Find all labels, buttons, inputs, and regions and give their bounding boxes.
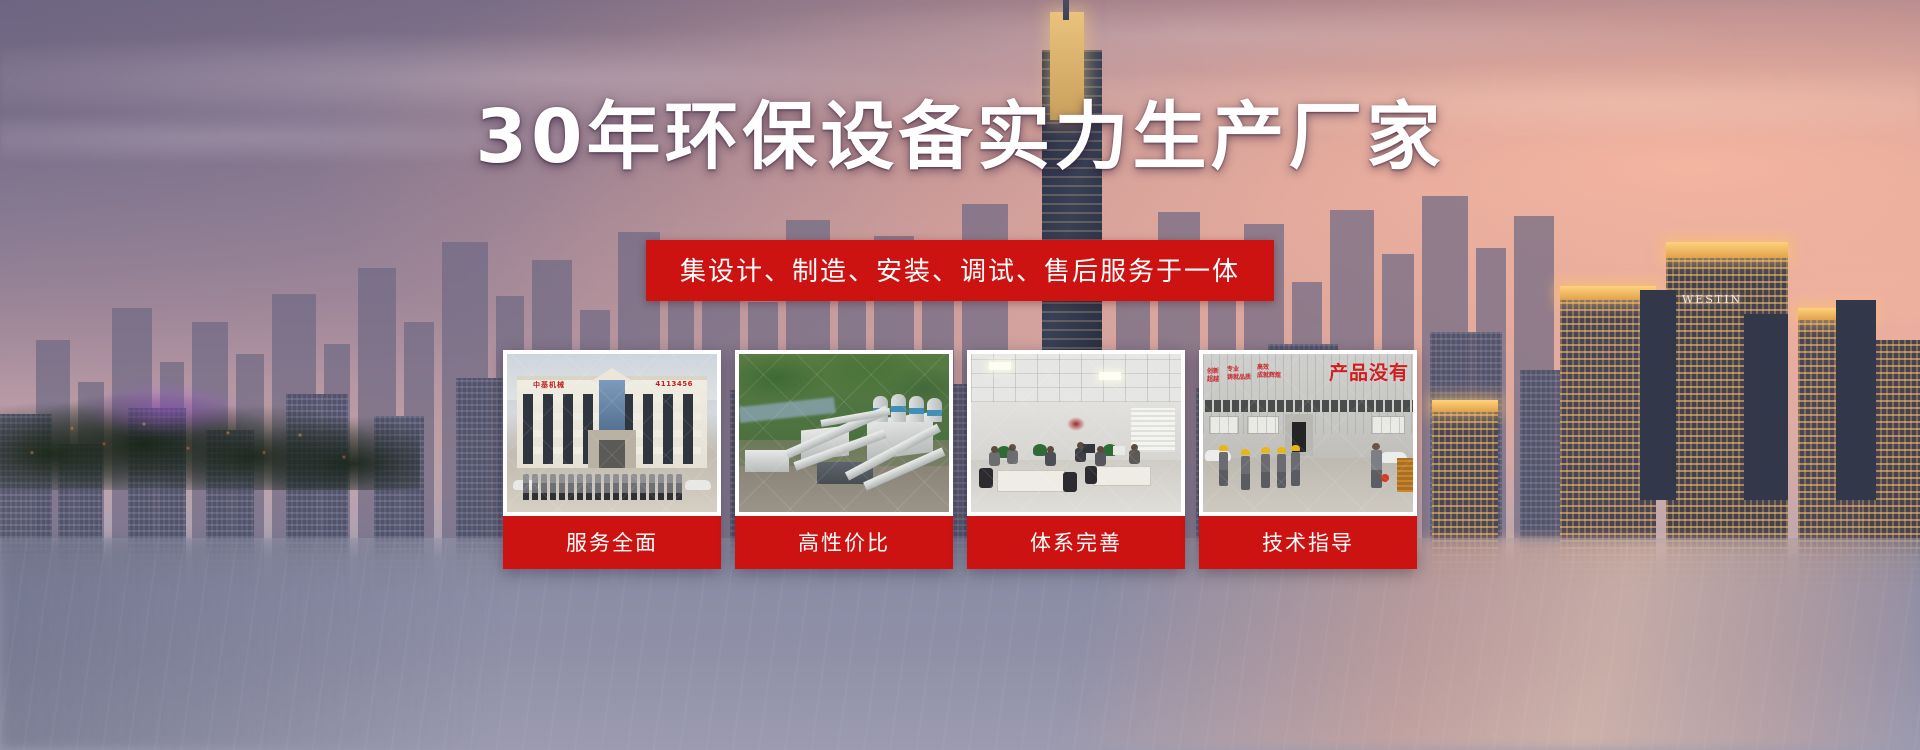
factory-banner-text: 产品没有 — [1329, 358, 1409, 385]
factory-slogan-2: 专业 铸就品质 — [1227, 366, 1251, 381]
card-label: 服务全面 — [503, 516, 721, 569]
feature-card[interactable]: 中基机械 4113456 服务全面 — [503, 350, 721, 569]
card-label: 技术指导 — [1199, 516, 1417, 569]
factory-slogan-1: 创新 超越 — [1207, 368, 1219, 383]
card-label: 体系完善 — [967, 516, 1185, 569]
feature-card-row: 中基机械 4113456 服务全面 — [503, 350, 1417, 569]
factory-slogan-3: 高效 成就辉煌 — [1257, 364, 1281, 379]
card-photo-factory-workers: 产品没有 创新 超越 专业 铸就品质 高效 成就辉煌 — [1203, 354, 1413, 512]
tower-spire — [1063, 0, 1069, 20]
card-photo-headquarters: 中基机械 4113456 — [507, 354, 717, 512]
feature-card[interactable]: 高性价比 — [735, 350, 953, 569]
page-title: 30年环保设备实力生产厂家 — [0, 100, 1920, 174]
purple-light-glow — [60, 374, 270, 444]
card-label: 高性价比 — [735, 516, 953, 569]
hero-banner: WESTIN 30年环保设备实力生产厂家 集设计、制造、安装、调试、售后服务于一… — [0, 0, 1920, 750]
westin-sign: WESTIN — [1682, 293, 1742, 306]
card-photo-plant-aerial — [739, 354, 949, 512]
card-photo-office-interior — [971, 354, 1181, 512]
feature-card[interactable]: 产品没有 创新 超越 专业 铸就品质 高效 成就辉煌 — [1199, 350, 1417, 569]
building-phone-text: 4113456 — [655, 380, 693, 388]
feature-card[interactable]: 体系完善 — [967, 350, 1185, 569]
building-sign-text: 中基机械 — [533, 380, 565, 390]
river-water — [0, 538, 1920, 750]
subtitle-banner: 集设计、制造、安装、调试、售后服务于一体 — [646, 240, 1274, 301]
